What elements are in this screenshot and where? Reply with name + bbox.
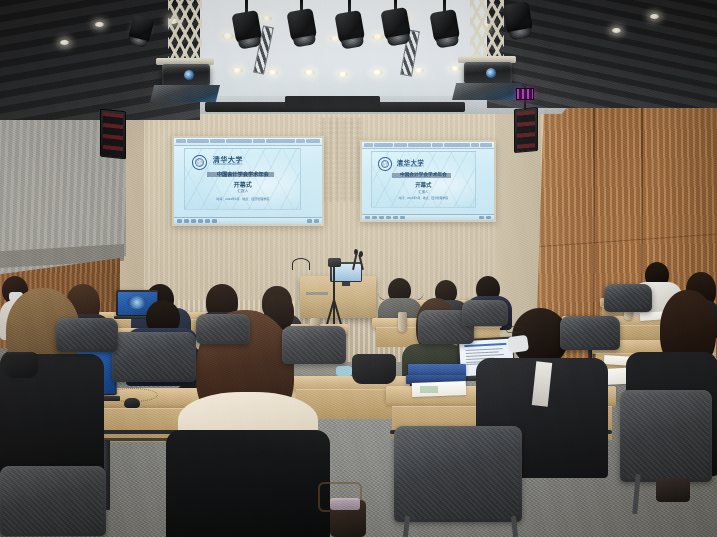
speaker-array-left (100, 109, 126, 160)
slide-subtitle: 开幕式 (185, 180, 300, 189)
cable-coil (106, 388, 158, 402)
downlight (232, 68, 243, 73)
slide-footnote: 时间：2023年5月 · 地点：经济管理学院 (185, 197, 300, 201)
slide-footnote: 时间：2023年5月 · 地点：经济管理学院 (372, 196, 474, 200)
travel-mug[interactable] (398, 312, 407, 332)
downlight (372, 70, 383, 75)
chair[interactable] (560, 316, 620, 350)
slide-presenter: 汇报人 (372, 189, 474, 194)
projection-screen-right[interactable]: 清华大学 TSINGHUA UNIVERSITY 中国会计学会学术年会 开幕式 … (360, 140, 496, 222)
university-seal-icon (378, 157, 392, 171)
chair[interactable] (604, 284, 652, 312)
chair[interactable] (282, 326, 346, 364)
slide-left: 清华大学 TSINGHUA UNIVERSITY 中国会计学会学术年会 开幕式 … (184, 148, 301, 210)
bag[interactable] (352, 354, 396, 384)
slide-title: 中国会计学会学术年会 (372, 172, 474, 178)
face-mask-icon (507, 335, 529, 354)
slide-university-name: 清华大学 (397, 158, 425, 167)
wood-seam-horizontal (535, 234, 717, 248)
downlight (414, 68, 424, 73)
slide-app-ribbon (174, 138, 322, 146)
wall-calligraphy-icon (318, 118, 364, 202)
slide-title-highlight (207, 172, 274, 177)
slide-title: 中国会计学会学术年会 (185, 171, 300, 178)
projection-screen-left[interactable]: 清华大学 TSINGHUA UNIVERSITY 中国会计学会学术年会 开幕式 … (172, 136, 324, 226)
ceiling-projector-left (148, 0, 222, 108)
chair[interactable] (196, 314, 250, 344)
downlight (262, 16, 272, 21)
ceiling-projector-right (452, 0, 526, 108)
downlight (338, 72, 348, 77)
slide-university-name: 清华大学 (213, 155, 243, 165)
downlight (372, 34, 384, 40)
ceiling-truss-secondary (285, 96, 380, 108)
slide-presenter: 汇报人 (185, 189, 300, 194)
chair[interactable] (620, 390, 712, 482)
paper-highlight (420, 386, 438, 393)
downlight (95, 22, 104, 27)
slide-university-subtitle: TSINGHUA UNIVERSITY (213, 163, 243, 166)
downlight (268, 70, 278, 75)
eyeglasses-icon (506, 326, 524, 333)
water-bottle[interactable] (336, 366, 352, 376)
slide-taskbar (174, 217, 322, 224)
chair[interactable] (462, 300, 508, 326)
bag[interactable] (4, 352, 38, 378)
slide-subtitle: 开幕式 (372, 181, 474, 189)
slide-title-highlight (392, 173, 451, 178)
downlight (650, 14, 659, 19)
speaker-array-right (514, 107, 538, 153)
slide-app-ribbon (362, 142, 494, 149)
downlight (304, 70, 315, 75)
chair[interactable] (112, 332, 196, 382)
downlight (612, 28, 621, 33)
slide-taskbar (362, 214, 494, 220)
attendee-front-2-torso (166, 430, 330, 537)
university-seal-icon (192, 155, 207, 170)
led-status-panel (516, 88, 534, 100)
downlight (222, 33, 234, 39)
gooseneck-microphone (292, 258, 310, 270)
downlight (60, 40, 69, 45)
bag-accent (330, 498, 360, 510)
chair[interactable] (394, 426, 522, 522)
podium-emblem (306, 292, 328, 295)
shoe (656, 478, 690, 502)
slide-university-subtitle: TSINGHUA UNIVERSITY (397, 165, 424, 168)
chair[interactable] (0, 466, 106, 536)
podium-monitor-stand (342, 282, 350, 286)
chair[interactable] (56, 318, 118, 352)
lecture-hall-photo: 清华大学 TSINGHUA UNIVERSITY 中国会计学会学术年会 开幕式 … (0, 0, 717, 537)
microphone-head (359, 251, 363, 257)
slide-right: 清华大学 TSINGHUA UNIVERSITY 中国会计学会学术年会 开幕式 … (371, 151, 475, 207)
